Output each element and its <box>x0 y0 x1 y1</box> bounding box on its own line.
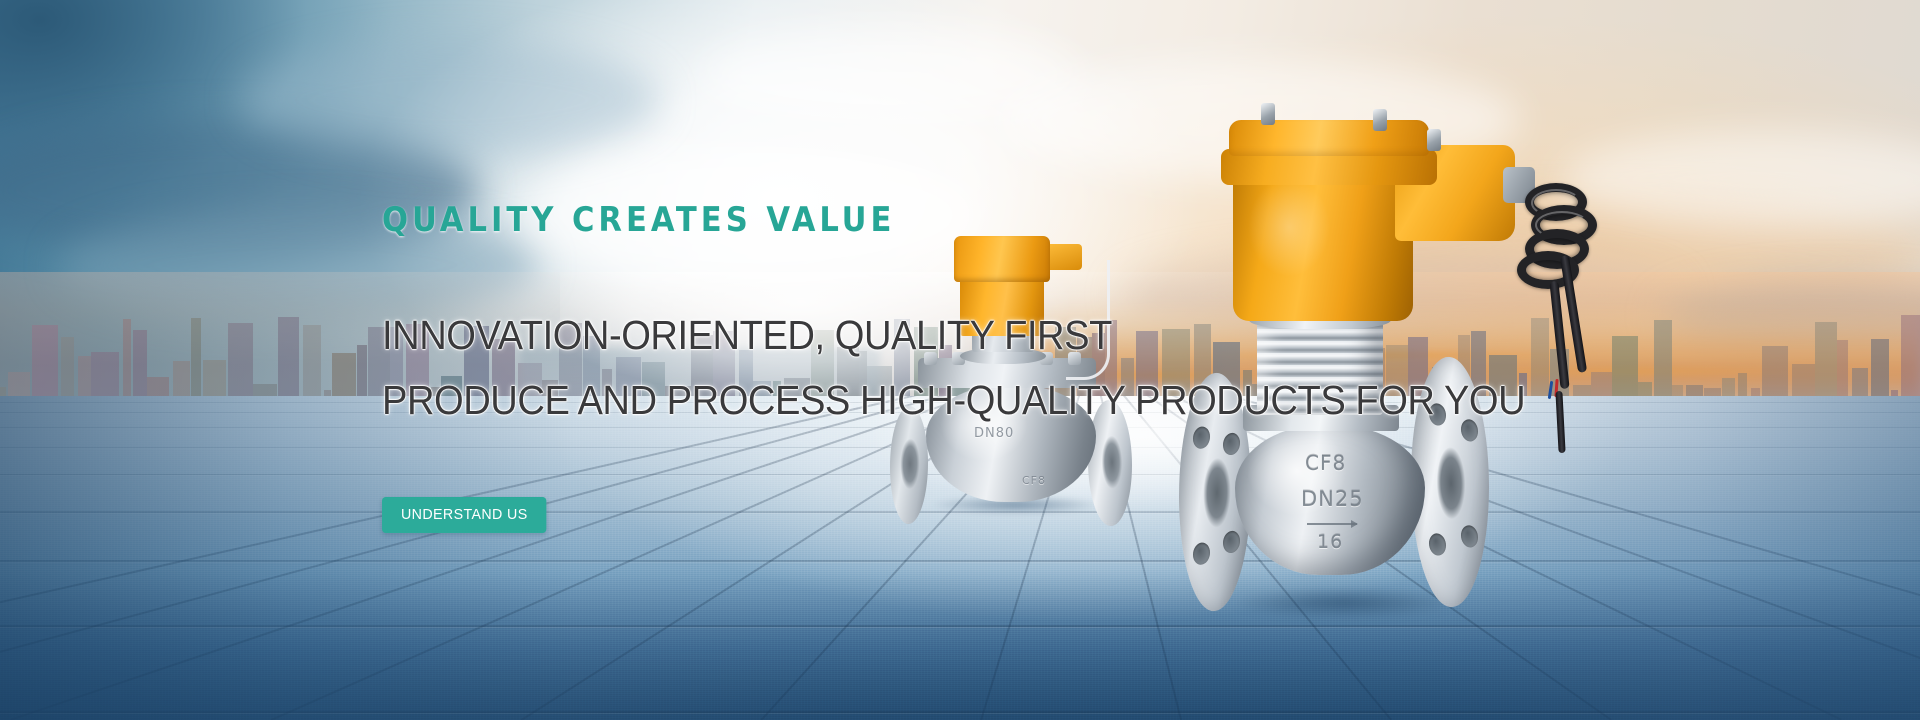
valve-size-mark: DN80 <box>974 426 1014 441</box>
solenoid-cap <box>954 236 1050 282</box>
flow-direction-arrow-icon <box>1307 523 1357 525</box>
understand-us-button[interactable]: UNDERSTAND US <box>382 497 547 533</box>
cloud-shape <box>700 30 1080 120</box>
solenoid-cap-top <box>1229 120 1429 156</box>
cap-screw <box>1261 103 1275 125</box>
page-title: QUALITY CREATES VALUE <box>382 200 895 240</box>
solenoid-barrel <box>1233 179 1413 321</box>
flange-bolt-hole <box>1461 524 1478 548</box>
cable-tail <box>1555 391 1565 453</box>
valve-size-mark: DN25 <box>1301 487 1364 511</box>
cable-wire-blue <box>1548 381 1553 399</box>
cap-screw <box>1373 109 1387 131</box>
product-valve-large: CF8 DN25 16 <box>1195 105 1615 635</box>
valve-material-mark: CF8 <box>1305 451 1346 475</box>
flange-bolt-hole <box>1223 530 1240 554</box>
valve-pressure-mark: 16 <box>1317 531 1343 553</box>
subtitle-line-2: PRODUCE AND PROCESS HIGH-QUALITY PRODUCT… <box>382 377 1525 424</box>
floor-bottom-shading <box>0 570 1920 720</box>
flange-bolt-hole <box>1223 432 1240 456</box>
flange-bolt-hole <box>1193 426 1210 450</box>
valve-material-mark: CF8 <box>1022 474 1046 487</box>
product-valve-small: DN80 CF8 <box>890 236 1190 506</box>
valve-body: CF8 DN25 16 <box>1235 425 1425 575</box>
cable-coil-highlight <box>1535 211 1589 239</box>
hero-banner: /* buildings injected below */ DN80 CF8 <box>0 0 1920 720</box>
cap-screw <box>1427 129 1441 151</box>
flange-bolt-hole <box>1429 532 1446 556</box>
subtitle-line-1: INNOVATION-ORIENTED, QUALITY FIRST <box>382 312 1112 359</box>
flange-bolt-hole <box>1193 542 1210 566</box>
